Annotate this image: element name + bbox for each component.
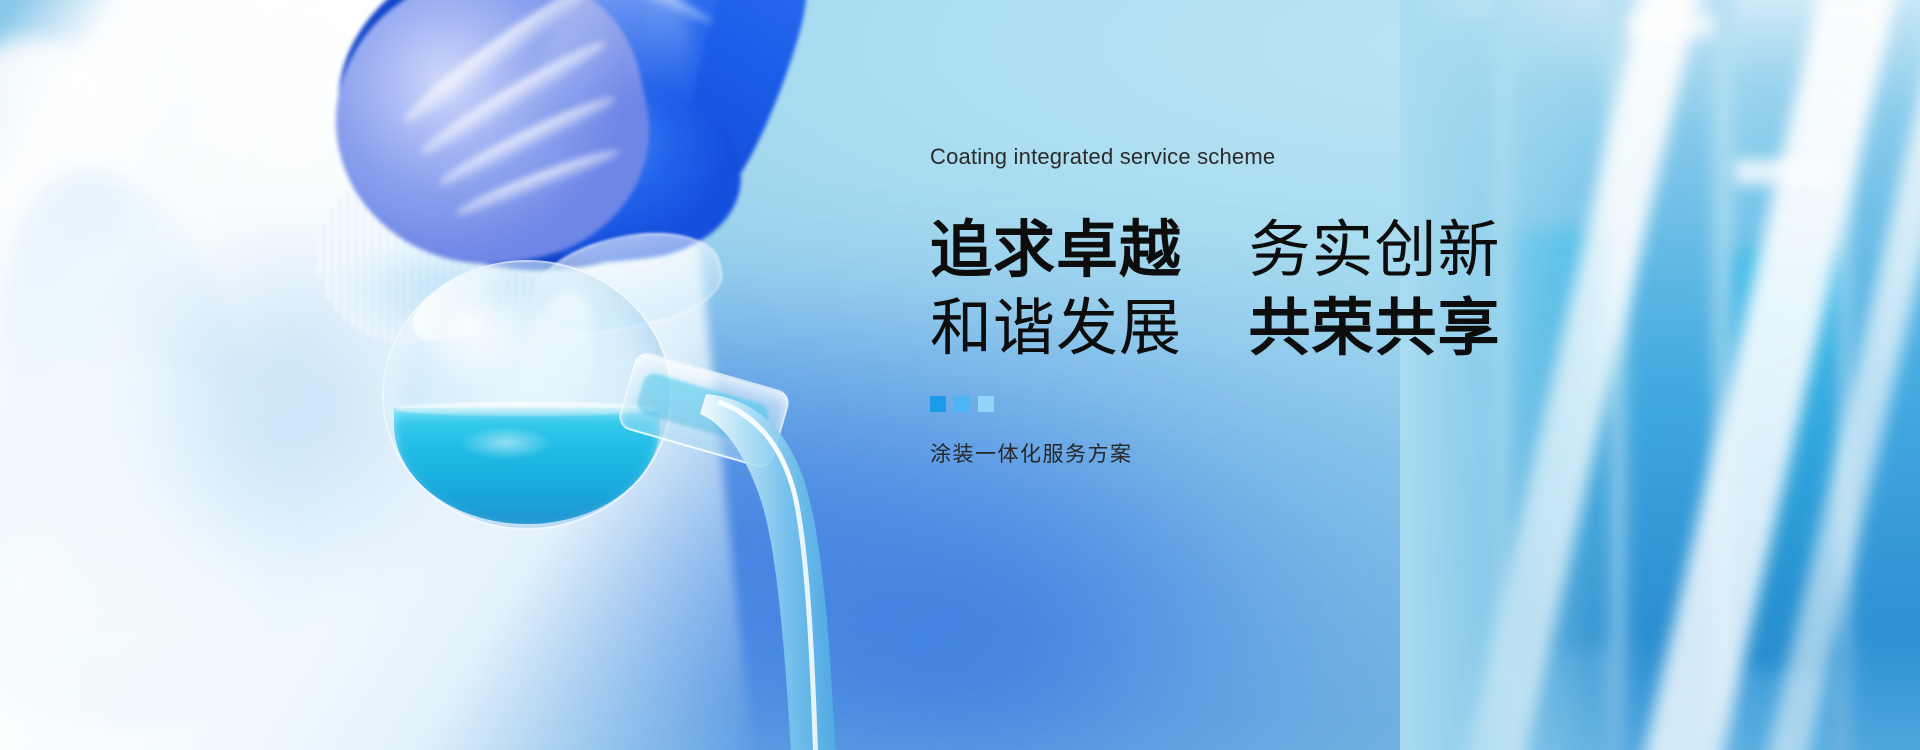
banner-copy: Coating integrated service scheme 追求卓越 务… <box>930 146 1720 489</box>
chinese-caption: 涂装一体化服务方案 <box>930 438 1720 468</box>
headline-line-1-bold: 追求卓越 <box>930 216 1182 285</box>
hero-banner: Coating integrated service scheme 追求卓越 务… <box>0 0 1920 750</box>
indicator-square <box>978 396 994 412</box>
headline-line-2: 和谐发展 共荣共享 <box>930 290 1720 368</box>
english-subtitle: Coating integrated service scheme <box>930 146 1720 168</box>
headline-line-2-bold: 共荣共享 <box>1248 294 1500 363</box>
headline-line-2-light: 和谐发展 <box>930 294 1182 363</box>
headline-line-1-light: 务实创新 <box>1248 216 1500 285</box>
pouring-liquid-stream <box>700 388 940 750</box>
headline-line-1: 追求卓越 务实创新 <box>930 212 1720 290</box>
indicator-square <box>954 396 970 412</box>
indicator-squares <box>930 396 1720 412</box>
indicator-square <box>930 396 946 412</box>
